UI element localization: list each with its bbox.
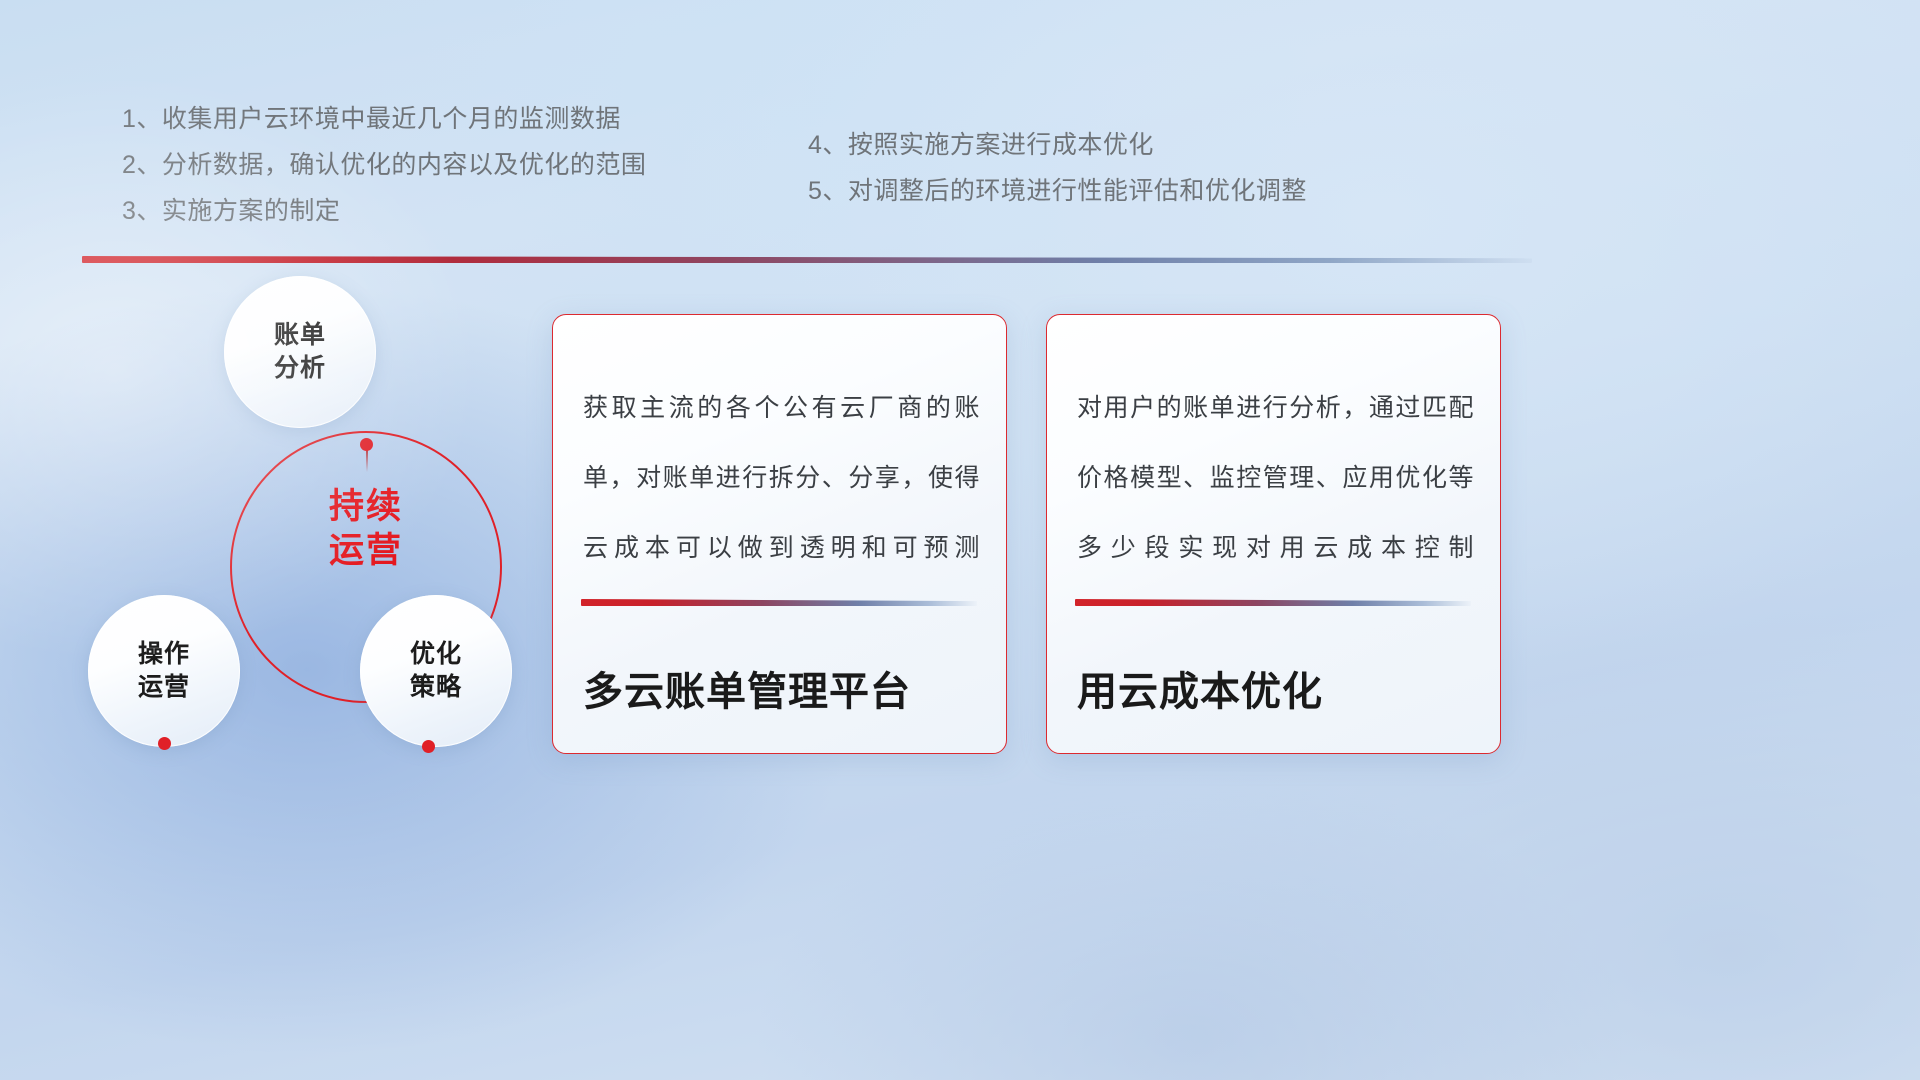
section-divider-bar <box>82 256 1532 263</box>
step-item-3: 3、实施方案的制定 <box>122 188 646 234</box>
diagram-dot-left <box>158 737 171 750</box>
diagram-node-billing-analysis[interactable]: 账单 分析 <box>224 276 376 428</box>
card-body-text: 对用户的账单进行分析，通过匹配价格模型、监控管理、应用优化等多少段实现对用云成本… <box>1077 373 1474 583</box>
step-item-5: 5、对调整后的环境进行性能评估和优化调整 <box>808 168 1307 214</box>
diagram-dot-top <box>360 438 373 451</box>
card-body-text: 获取主流的各个公有云厂商的账单，对账单进行拆分、分享，使得云成本可以做到透明和可… <box>583 373 980 583</box>
node-label-line-2: 运营 <box>138 671 190 704</box>
card-divider-bar <box>581 599 977 606</box>
node-label-line-1: 优化 <box>410 638 462 671</box>
step-item-2: 2、分析数据，确认优化的内容以及优化的范围 <box>122 142 646 188</box>
step-item-4: 4、按照实施方案进行成本优化 <box>808 122 1307 168</box>
steps-right-column: 4、按照实施方案进行成本优化 5、对调整后的环境进行性能评估和优化调整 <box>808 122 1307 214</box>
card-title: 用云成本优化 <box>1077 659 1480 717</box>
step-item-1: 1、收集用户云环境中最近几个月的监测数据 <box>122 96 646 142</box>
node-label-line-1: 操作 <box>138 638 190 671</box>
card-divider-bar <box>1075 599 1471 606</box>
diagram-dot-right <box>422 740 435 753</box>
card-title: 多云账单管理平台 <box>583 659 986 717</box>
card-cloud-cost-optimization[interactable]: 对用户的账单进行分析，通过匹配价格模型、监控管理、应用优化等多少段实现对用云成本… <box>1046 314 1501 754</box>
steps-left-column: 1、收集用户云环境中最近几个月的监测数据 2、分析数据，确认优化的内容以及优化的… <box>122 96 646 234</box>
card-multi-cloud-billing-platform[interactable]: 获取主流的各个公有云厂商的账单，对账单进行拆分、分享，使得云成本可以做到透明和可… <box>552 314 1007 754</box>
diagram-node-optimization[interactable]: 优化 策略 <box>360 595 512 747</box>
diagram-center-label: 持续 运营 <box>230 485 502 573</box>
node-label-line-2: 策略 <box>410 671 462 704</box>
slide-canvas: 1、收集用户云环境中最近几个月的监测数据 2、分析数据，确认优化的内容以及优化的… <box>0 0 1920 1080</box>
diagram-connector-tick <box>366 450 368 472</box>
node-label-line-2: 分析 <box>274 352 326 385</box>
center-label-line-2: 运营 <box>230 529 502 573</box>
continuous-operation-diagram: 持续 运营 账单 分析 操作 运营 优化 策略 <box>70 290 540 760</box>
node-label-line-1: 账单 <box>274 319 326 352</box>
center-label-line-1: 持续 <box>230 485 502 529</box>
diagram-node-operations[interactable]: 操作 运营 <box>88 595 240 747</box>
